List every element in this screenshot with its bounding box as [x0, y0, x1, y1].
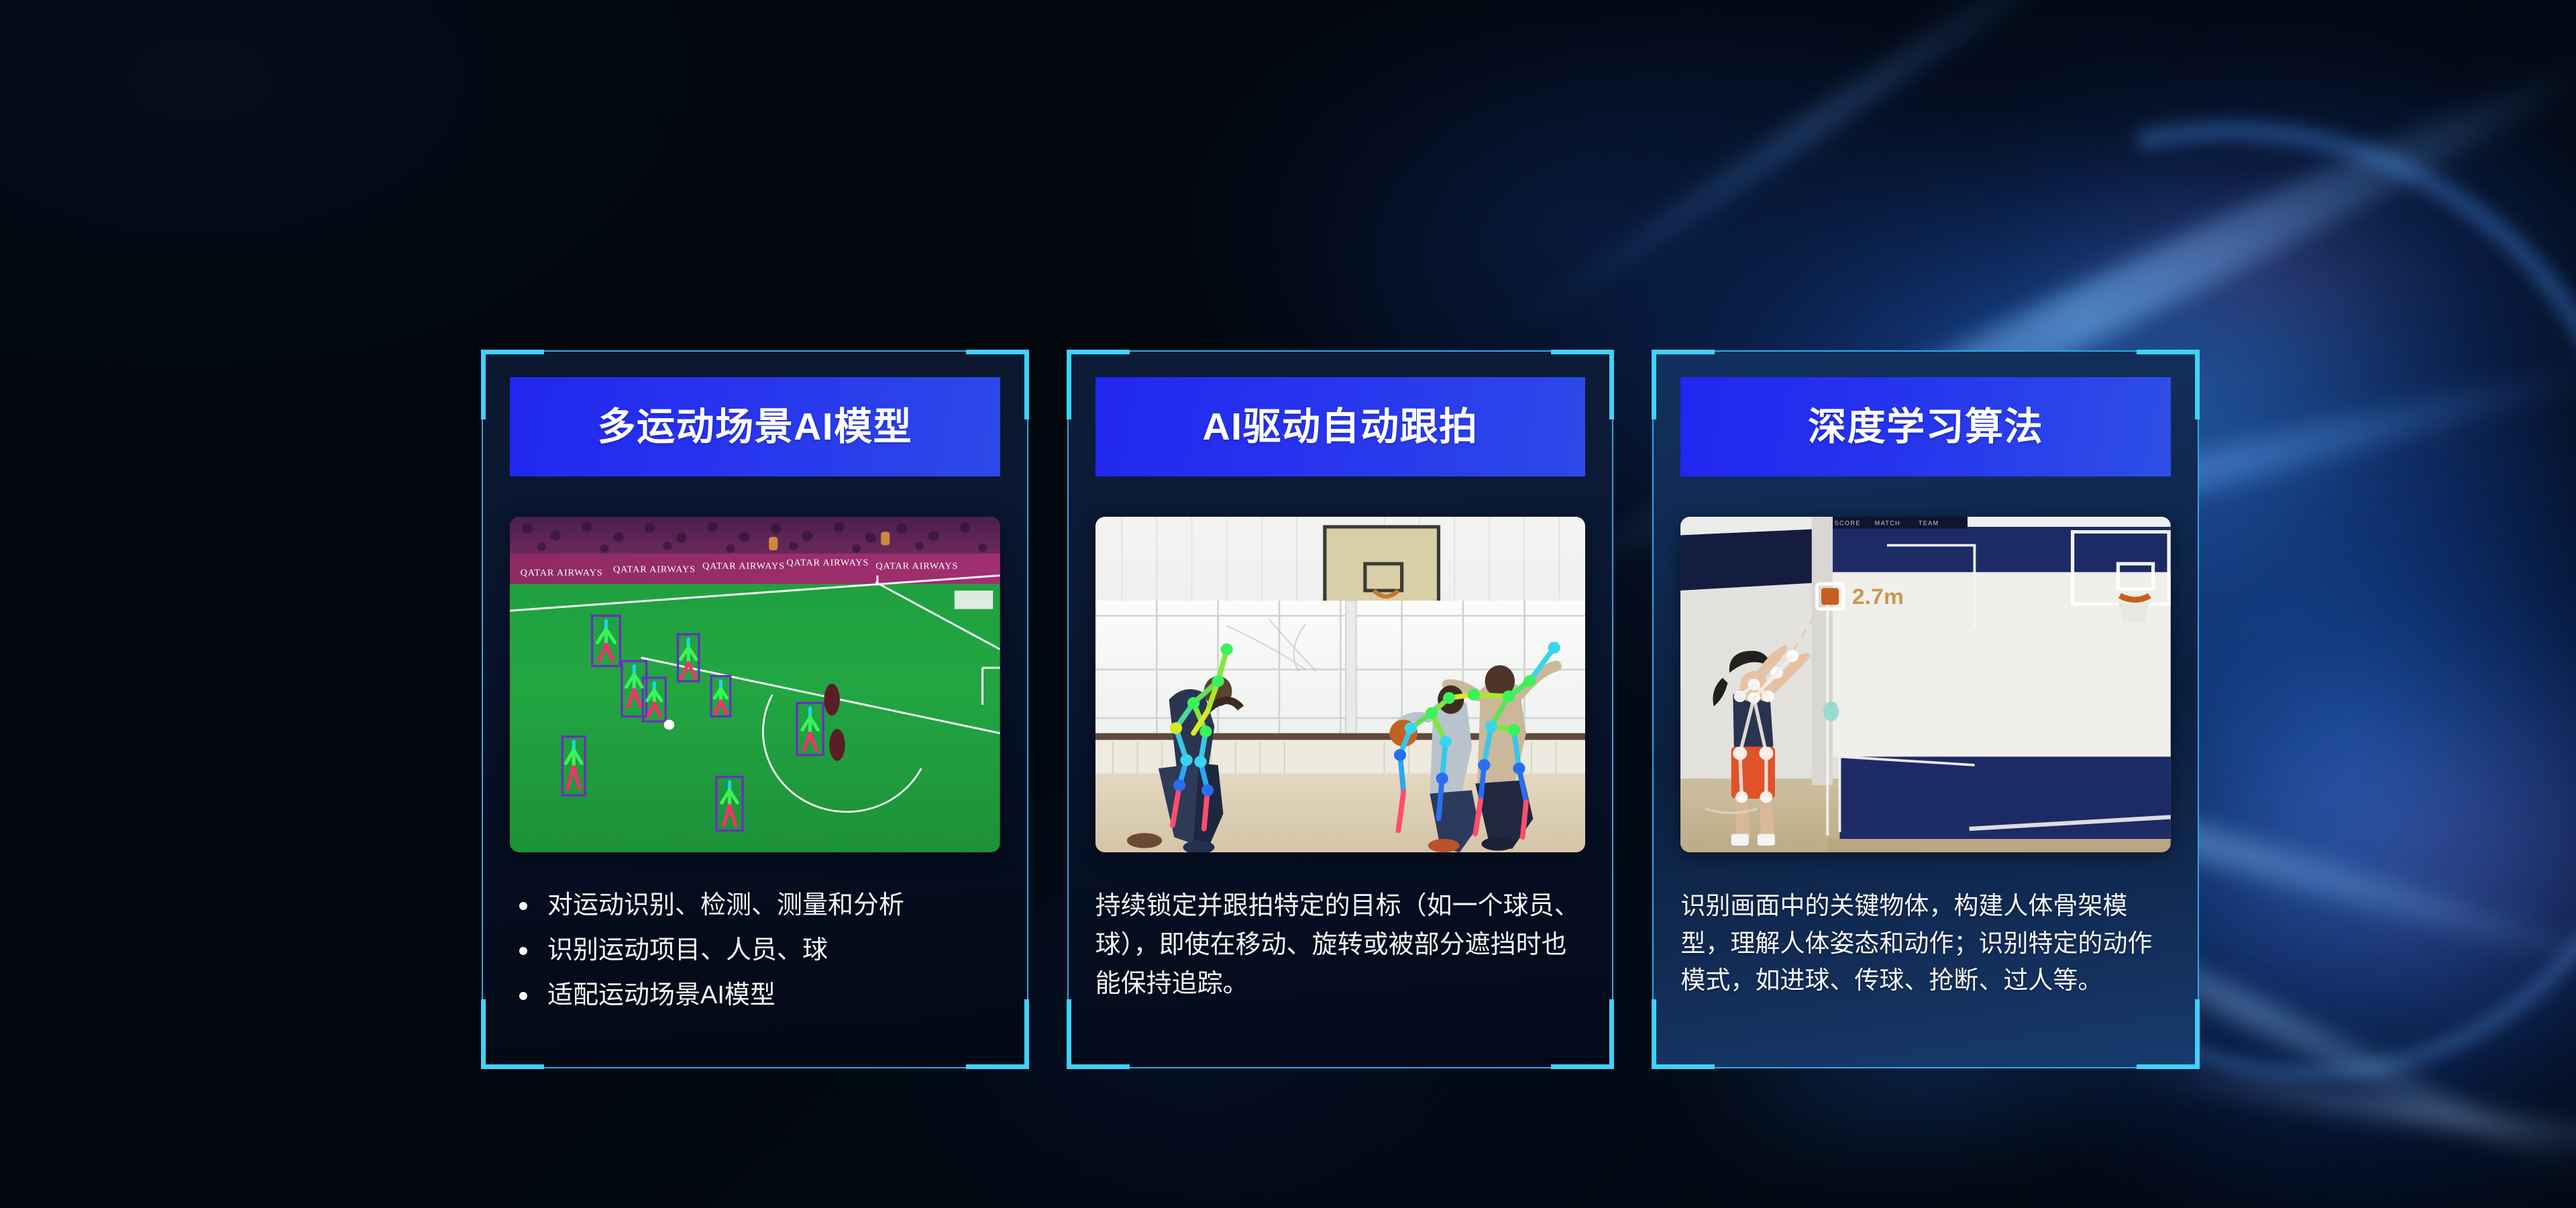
card-title-band: AI驱动自动跟拍 [1095, 377, 1586, 476]
list-item: 识别运动项目、人员、球 [514, 932, 1000, 969]
description-text: 持续锁定并跟拍特定的目标（如一个球员、球），即使在移动、旋转或被部分遮挡时也能保… [1095, 887, 1586, 1003]
card-title: AI驱动自动跟拍 [1203, 408, 1479, 446]
card-title: 深度学习算法 [1808, 408, 2043, 446]
basketball-gym-pose-tracking-image [1095, 517, 1586, 852]
feature-card-ai-driven-auto-tracking[interactable]: AI驱动自动跟拍 [1067, 350, 1614, 1068]
frame-edge-right [2198, 350, 2199, 1068]
card-title-band: 深度学习算法 [1680, 377, 2171, 476]
card-content: AI驱动自动跟拍 [1069, 352, 1613, 1067]
frame-edge-bottom [1067, 1067, 1614, 1068]
frame-edge-bottom [482, 1067, 1028, 1068]
list-item: 适配运动场景AI模型 [514, 977, 1000, 1014]
card-content: 深度学习算法 [1654, 352, 2198, 1067]
frame-edge-bottom [1652, 1067, 2199, 1068]
card-description: 持续锁定并跟拍特定的目标（如一个球员、球），即使在移动、旋转或被部分遮挡时也能保… [1095, 887, 1586, 1067]
card-description: 对运动识别、检测、测量和分析 识别运动项目、人员、球 适配运动场景AI模型 [510, 887, 1000, 1067]
distance-label: 2.7m [1852, 585, 1904, 609]
feature-bullet-list: 对运动识别、检测、测量和分析 识别运动项目、人员、球 适配运动场景AI模型 [510, 887, 1000, 1014]
svg-text:QATAR AIRWAYS: QATAR AIRWAYS [521, 568, 603, 578]
frame-edge-right [1612, 350, 1613, 1068]
svg-text:MATCH: MATCH [1875, 520, 1900, 527]
soccer-pose-detection-image: QATAR AIRWAYS QATAR AIRWAYS QATAR AIRWAY… [510, 517, 1000, 852]
svg-text:QATAR AIRWAYS: QATAR AIRWAYS [613, 564, 696, 575]
svg-text:QATAR AIRWAYS: QATAR AIRWAYS [786, 558, 869, 568]
svg-text:QATAR AIRWAYS: QATAR AIRWAYS [875, 561, 958, 572]
card-description: 识别画面中的关键物体，构建人体骨架模型，理解人体姿态和动作；识别特定的动作模式，… [1680, 887, 2171, 1067]
card-title: 多运动场景AI模型 [598, 408, 913, 446]
basketball-shot-measurement-image: SCOREMATCHTEAM [1680, 517, 2171, 852]
card-title-band: 多运动场景AI模型 [510, 377, 1000, 476]
frame-edge-right [1027, 350, 1028, 1068]
card-content: 多运动场景AI模型 [483, 352, 1027, 1067]
feature-cards-row: 多运动场景AI模型 [482, 350, 2199, 1068]
feature-card-multi-sport-ai-model[interactable]: 多运动场景AI模型 [482, 350, 1028, 1068]
description-text: 识别画面中的关键物体，构建人体骨架模型，理解人体姿态和动作；识别特定的动作模式，… [1680, 887, 2171, 999]
svg-text:QATAR AIRWAYS: QATAR AIRWAYS [702, 561, 785, 572]
svg-text:SCORE: SCORE [1835, 520, 1861, 527]
list-item: 对运动识别、检测、测量和分析 [514, 887, 1000, 924]
feature-card-deep-learning-algorithm[interactable]: 深度学习算法 [1652, 350, 2199, 1068]
svg-text:TEAM: TEAM [1919, 520, 1939, 527]
